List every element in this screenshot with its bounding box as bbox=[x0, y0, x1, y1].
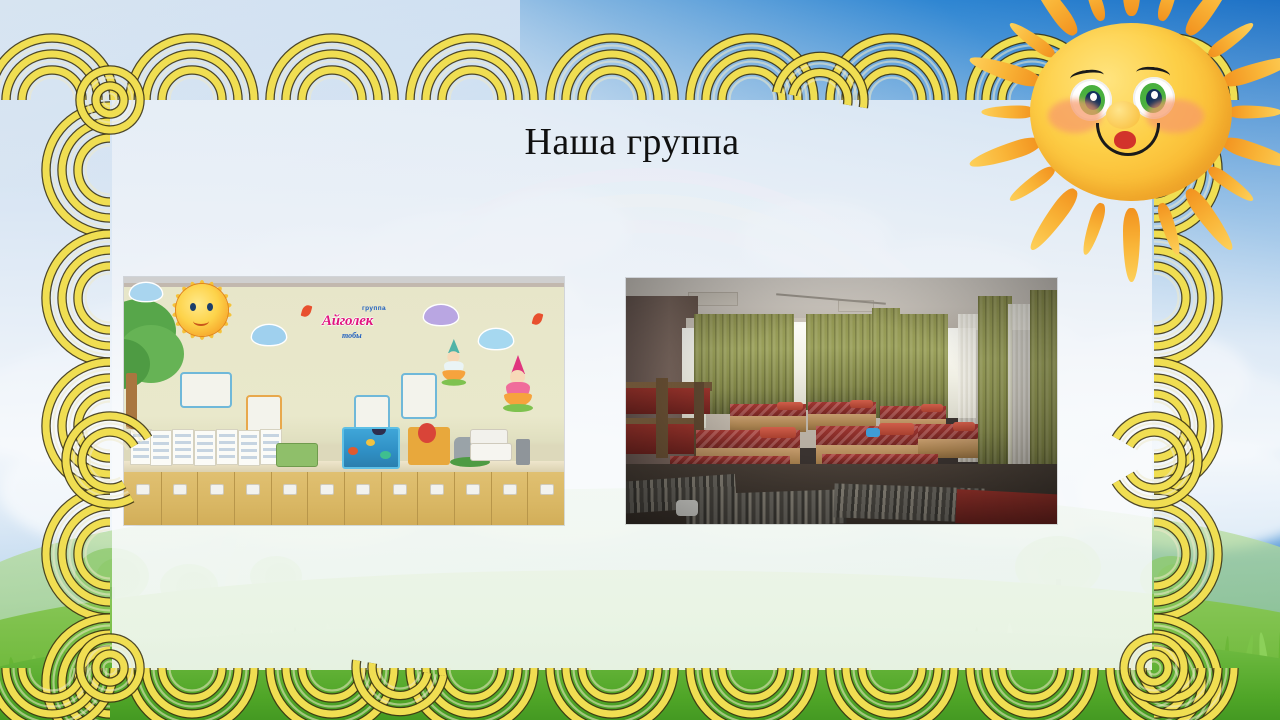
girl-decal-teal-base bbox=[442, 379, 467, 386]
locker-door bbox=[527, 472, 564, 525]
cartoon-sun-ray bbox=[967, 134, 1043, 173]
folder-line bbox=[241, 456, 257, 459]
locker-sticker bbox=[466, 484, 480, 495]
locker-door bbox=[307, 472, 345, 525]
cartoon-sun-ray bbox=[1123, 208, 1140, 282]
bedroom-room bbox=[626, 278, 1057, 524]
cloud-decal-purple bbox=[424, 305, 458, 325]
aquarium-fish-2 bbox=[366, 439, 375, 446]
bedroom-vignette bbox=[626, 278, 1057, 524]
red-ball-toy bbox=[418, 423, 436, 443]
cartoon-sun bbox=[975, 0, 1280, 275]
folder-line bbox=[133, 434, 149, 437]
cartoon-sun-ray bbox=[1181, 185, 1238, 255]
folder-line bbox=[175, 448, 191, 451]
folder-line bbox=[175, 434, 191, 437]
locker-door bbox=[271, 472, 309, 525]
folder-line bbox=[153, 456, 169, 459]
folder bbox=[172, 429, 194, 465]
locker-sticker bbox=[246, 484, 260, 495]
cartoon-sun-ray bbox=[1220, 134, 1280, 173]
butterfly-decal-2 bbox=[320, 363, 328, 370]
folder-line bbox=[153, 435, 169, 438]
cartoon-sun-ray bbox=[981, 106, 1035, 119]
cartoon-sun-ray bbox=[1154, 201, 1183, 256]
info-board-4 bbox=[401, 373, 437, 419]
wall-logo-line-main: Айголек bbox=[322, 313, 373, 330]
cartoon-sun-glint-right bbox=[1151, 91, 1158, 99]
cartoon-sun-ray bbox=[1006, 163, 1057, 205]
folder-line bbox=[241, 449, 257, 452]
sun-decal-eye-right bbox=[207, 303, 213, 311]
folder-line bbox=[219, 448, 235, 451]
locker-sticker bbox=[356, 484, 370, 495]
locker-door bbox=[161, 472, 199, 525]
cloud-decal-blue-1 bbox=[252, 325, 286, 345]
sun-decal-body bbox=[176, 284, 228, 336]
locker-door bbox=[344, 472, 382, 525]
folder-line bbox=[197, 435, 213, 438]
folder bbox=[238, 430, 260, 466]
wall-logo-line-top: группа bbox=[362, 305, 386, 312]
sun-decal-eye-left bbox=[190, 303, 196, 311]
locker-sticker bbox=[540, 484, 554, 495]
cartoon-sun-tongue bbox=[1114, 131, 1136, 149]
locker-sticker bbox=[320, 484, 334, 495]
cartoon-sun-cheek-left bbox=[1048, 99, 1102, 133]
locker-sticker bbox=[283, 484, 297, 495]
locker-sticker bbox=[136, 484, 150, 495]
folder-line bbox=[153, 442, 169, 445]
cartoon-sun-body bbox=[1030, 23, 1232, 201]
folder-line bbox=[153, 449, 169, 452]
octopus-toy bbox=[372, 427, 386, 435]
locker-door bbox=[491, 472, 529, 525]
folder-line bbox=[219, 441, 235, 444]
folder bbox=[150, 430, 172, 466]
locker-door-group bbox=[124, 472, 564, 525]
locker-door bbox=[197, 472, 235, 525]
locker-row bbox=[124, 472, 564, 525]
folder-line bbox=[241, 435, 257, 438]
locker-door bbox=[454, 472, 492, 525]
cloud-decal-blue-2 bbox=[479, 329, 513, 349]
cartoon-sun-ray bbox=[967, 51, 1043, 90]
cartoon-sun-ray bbox=[1205, 19, 1256, 61]
folder-line bbox=[241, 442, 257, 445]
folder-line bbox=[219, 434, 235, 437]
butterfly-decal-3 bbox=[152, 417, 160, 424]
cartoon-sun-ray bbox=[1078, 0, 1107, 23]
cartoon-sun-glint-left bbox=[1090, 93, 1097, 101]
aquarium-toy bbox=[342, 427, 400, 469]
locker-sticker bbox=[210, 484, 224, 495]
folder-line bbox=[263, 434, 279, 437]
folder-line bbox=[197, 449, 213, 452]
locker-door bbox=[234, 472, 272, 525]
bedroom-photo[interactable] bbox=[626, 278, 1057, 524]
storage-box-2 bbox=[470, 443, 512, 461]
folder-line bbox=[133, 441, 149, 444]
locker-sticker bbox=[173, 484, 187, 495]
cartoon-sun-ray bbox=[1227, 106, 1280, 119]
sun-decal-mouth bbox=[193, 316, 209, 326]
slide-root: Наша группа bbox=[0, 0, 1280, 720]
cartoon-sun-ray bbox=[1205, 163, 1256, 205]
info-board-1 bbox=[180, 372, 232, 408]
cartoon-sun-ray bbox=[1078, 201, 1107, 256]
locker-door bbox=[381, 472, 419, 525]
tree-trunk bbox=[126, 373, 137, 429]
locker-sticker bbox=[503, 484, 517, 495]
folder-line bbox=[219, 455, 235, 458]
wall-logo-line-bottom: тобы bbox=[342, 331, 362, 340]
classroom-photo[interactable]: группа Айголек тобы bbox=[124, 277, 564, 525]
folder-line bbox=[175, 441, 191, 444]
locker-door bbox=[124, 472, 162, 525]
folder-line bbox=[133, 448, 149, 451]
cartoon-sun-ray bbox=[1024, 185, 1081, 255]
girl-decal-pink-base bbox=[503, 404, 533, 412]
cartoon-sun-ray bbox=[1220, 51, 1280, 90]
folder bbox=[130, 429, 152, 465]
locker-sticker bbox=[393, 484, 407, 495]
folder-line bbox=[175, 455, 191, 458]
folder-line bbox=[133, 455, 149, 458]
folder-line bbox=[197, 456, 213, 459]
folder bbox=[216, 429, 238, 465]
aquarium-fish-3 bbox=[380, 451, 391, 459]
bin-toy bbox=[516, 439, 530, 465]
cloud-decal-blue-3 bbox=[130, 283, 162, 301]
diorama-toy bbox=[276, 443, 318, 467]
cartoon-sun-ray bbox=[1154, 0, 1183, 23]
cartoon-sun-ray bbox=[1123, 0, 1140, 16]
folder-line bbox=[197, 442, 213, 445]
butterfly-decal-1 bbox=[272, 373, 280, 380]
tree-crown-inner bbox=[1157, 564, 1194, 596]
cartoon-sun-ray bbox=[1006, 19, 1057, 61]
folder bbox=[194, 430, 216, 466]
locker-sticker bbox=[430, 484, 444, 495]
aquarium-fish-1 bbox=[348, 447, 358, 455]
locker-door bbox=[417, 472, 455, 525]
